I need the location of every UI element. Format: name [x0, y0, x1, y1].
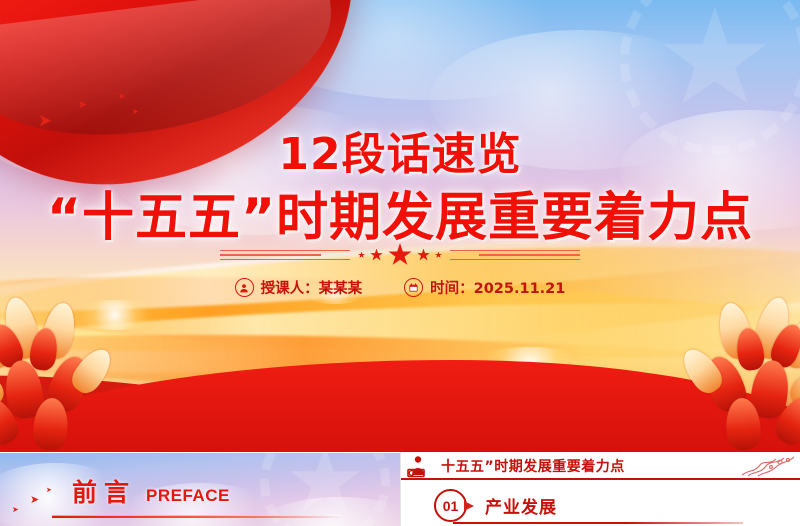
date-label: 时间：2025.11.21: [430, 277, 565, 298]
calendar-icon: [404, 278, 423, 297]
cover-meta-row: 授课人：某某某 时间：2025.11.21: [0, 277, 800, 298]
preface-title-row: 前言 PREFACE: [72, 473, 230, 509]
star-icon: [358, 252, 365, 259]
cover-title-line-2: “十五五”时期发展重要着力点: [0, 175, 800, 250]
presenter-label: 授课人：某某某: [261, 277, 363, 298]
person-icon: [235, 278, 254, 297]
content-section-row[interactable]: 01 产业发展: [434, 489, 557, 522]
content-header-title: 十五五”时期发展重要着力点: [441, 456, 625, 476]
content-slide-panel[interactable]: 十五五”时期发展重要着力点 01 产业发展: [400, 452, 800, 526]
content-slide-header: 十五五”时期发展重要着力点: [401, 453, 800, 480]
star-icon: [370, 249, 383, 262]
preface-underline: [52, 515, 342, 518]
section-title: 产业发展: [485, 493, 557, 518]
section-number-badge: 01: [434, 489, 467, 522]
flying-bird-icon: ➤: [12, 505, 19, 514]
cover-slide: ➤ ➤ ➤ ➤: [0, 0, 800, 452]
presenter-meta: 授课人：某某某: [235, 277, 363, 298]
date-meta: 时间：2025.11.21: [404, 277, 565, 298]
chinese-knot-ornament-icon: [740, 455, 796, 477]
star-icon: [435, 252, 442, 259]
speaker-podium-icon: [406, 454, 432, 478]
preface-slide-panel[interactable]: ➤ ➤ ➤ 前言 PREFACE: [0, 452, 400, 526]
star-icon: [388, 243, 412, 267]
bottom-slide-strip: ➤ ➤ ➤ 前言 PREFACE 十五五”时期发展重要着力点: [0, 452, 800, 526]
divider-rule-left: [220, 250, 350, 261]
section-underline: [453, 522, 743, 524]
star-icon: [417, 249, 430, 262]
divider-rule-right: [450, 250, 580, 261]
flying-bird-icon: ➤: [30, 493, 39, 506]
five-stars-divider: [0, 243, 800, 267]
section-number: 01: [443, 498, 459, 514]
flying-bird-icon: ➤: [46, 486, 52, 494]
preface-title-en: PREFACE: [146, 486, 230, 506]
cover-title-line-1: 12段话速览: [0, 118, 800, 182]
preface-title-cn: 前言: [72, 473, 136, 509]
